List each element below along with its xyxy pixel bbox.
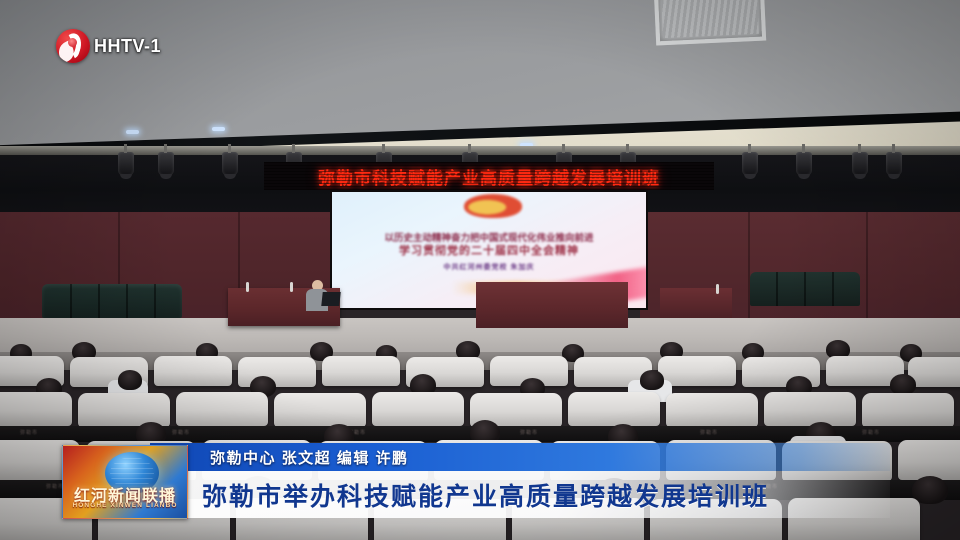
credit-text: 弥勒中心 张文超 编辑 许鹏	[210, 447, 409, 468]
ceiling-light-dot	[126, 130, 139, 134]
audience-seat	[764, 392, 856, 426]
channel-logo: HHTV-1	[56, 28, 174, 64]
stage-table-right	[660, 288, 732, 318]
headline-text: 弥勒市举办科技赋能产业高质量跨越发展培训班	[202, 477, 769, 513]
credit-bar: 弥勒中心 张文超 编辑 许鹏	[150, 443, 890, 471]
audience-seat	[372, 392, 464, 426]
audience-seat	[0, 392, 72, 426]
stage-table-center	[476, 282, 628, 328]
led-banner-text: 弥勒市科技赋能产业高质量跨越发展培训班	[318, 164, 660, 189]
audience-seat	[568, 392, 660, 426]
audience-seat	[862, 393, 954, 427]
hhtv-ball-icon	[56, 29, 90, 63]
audience-head	[640, 370, 664, 390]
program-title-pinyin: HONGHE XINWEN LIANBO	[63, 502, 187, 509]
slide-line-3: 中共红河州委党校 朱加庆	[332, 262, 646, 272]
ceiling-air-vent-icon	[654, 0, 766, 45]
lighting-truss	[0, 146, 960, 155]
audience-head	[890, 374, 916, 395]
stage-lamp-icon	[118, 152, 134, 176]
stage-lamp-icon	[886, 152, 902, 176]
video-frame: 弥勒市科技赋能产业高质量跨越发展培训班 以历史主动精神奋力把中国式现代化伟业推向…	[0, 0, 960, 540]
party-emblem-icon	[464, 194, 522, 218]
laptop-icon	[321, 292, 340, 306]
audience-seat	[154, 356, 232, 386]
channel-logo-text: HHTV-1	[94, 36, 161, 57]
microphone-icon	[290, 282, 293, 292]
stage-lamp-icon	[158, 152, 174, 176]
stage-lamp-icon	[742, 152, 758, 176]
microphone-icon	[716, 284, 719, 294]
led-banner: 弥勒市科技赋能产业高质量跨越发展培训班	[264, 162, 714, 190]
stage-lamp-icon	[222, 152, 238, 176]
audience-head	[118, 370, 142, 390]
ceiling-light-dot	[212, 127, 225, 131]
audience-seat	[666, 393, 758, 427]
stage-bench-right	[750, 272, 860, 306]
stage-lamp-icon	[796, 152, 812, 176]
lower-third-overlay: 弥勒中心 张文超 编辑 许鹏 弥勒市举办科技赋能产业高质量跨越发展培训班 红河新…	[0, 430, 960, 525]
audience-seat	[322, 356, 400, 386]
audience-seat	[274, 393, 366, 427]
slide-line-2: 学习贯彻党的二十届四中全会精神	[332, 242, 646, 258]
program-badge: 红河新闻联播 HONGHE XINWEN LIANBO	[62, 445, 188, 519]
stage-bench-left	[42, 284, 182, 318]
microphone-icon	[246, 282, 249, 292]
audience-seat	[176, 392, 268, 426]
stage-lamp-icon	[852, 152, 868, 176]
headline-bar: 弥勒市举办科技赋能产业高质量跨越发展培训班	[150, 471, 890, 518]
